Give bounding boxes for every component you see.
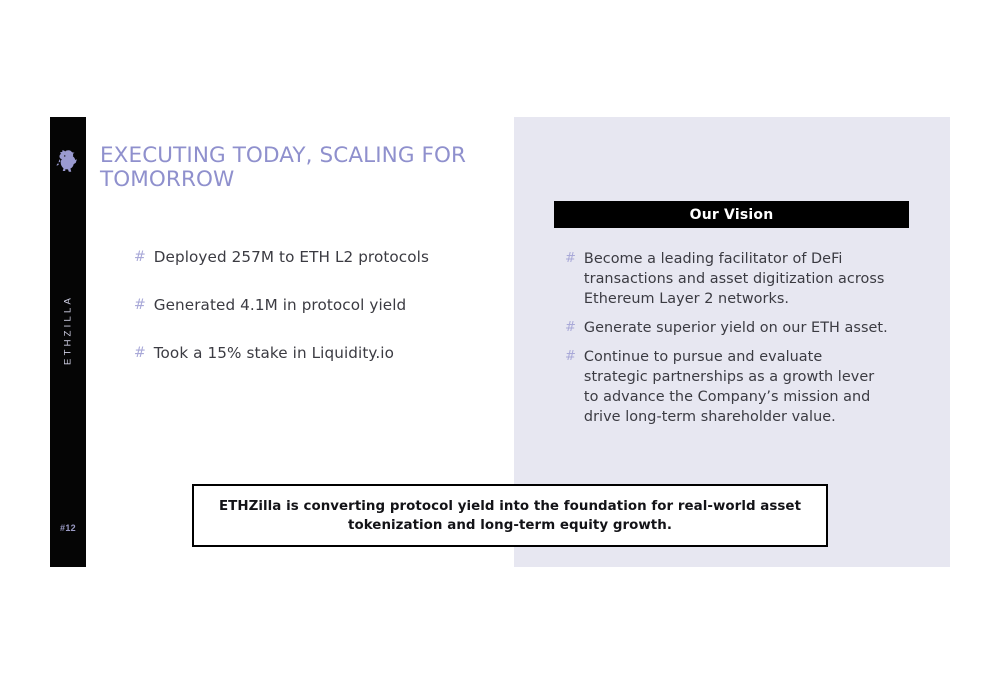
list-item: # Generate superior yield on our ETH ass…: [565, 318, 890, 338]
slide-title: EXECUTING TODAY, SCALING FOR TOMORROW: [100, 144, 500, 192]
hash-bullet-icon: #: [134, 295, 146, 316]
vision-banner-label: Our Vision: [690, 207, 774, 223]
brand-vertical-label: ETHZILLA: [63, 295, 74, 365]
brand-sidebar: ETHZILLA #12: [50, 117, 86, 567]
list-item-label: Took a 15% stake in Liquidity.io: [154, 343, 394, 364]
hash-bullet-icon: #: [134, 247, 146, 268]
list-item: # Continue to pursue and evaluate strate…: [565, 347, 890, 427]
page-number: #12: [60, 523, 76, 533]
slide-canvas: ETHZILLA #12 EXECUTING TODAY, SCALING FO…: [0, 0, 1000, 685]
hash-bullet-icon: #: [565, 347, 576, 367]
list-item: # Deployed 257M to ETH L2 protocols: [134, 247, 474, 268]
hash-bullet-icon: #: [565, 318, 576, 338]
list-item-label: Continue to pursue and evaluate strategi…: [584, 347, 890, 427]
list-item-label: Become a leading facilitator of DeFi tra…: [584, 249, 890, 309]
list-item-label: Deployed 257M to ETH L2 protocols: [154, 247, 429, 268]
summary-callout-text: ETHZilla is converting protocol yield in…: [210, 497, 810, 535]
list-item: # Become a leading facilitator of DeFi t…: [565, 249, 890, 309]
list-item: # Took a 15% stake in Liquidity.io: [134, 343, 474, 364]
hash-bullet-icon: #: [134, 343, 146, 364]
vision-banner: Our Vision: [554, 201, 909, 228]
summary-callout-box: ETHZilla is converting protocol yield in…: [192, 484, 828, 547]
highlights-list: # Deployed 257M to ETH L2 protocols # Ge…: [134, 247, 474, 364]
vision-list: # Become a leading facilitator of DeFi t…: [565, 249, 890, 427]
list-item-label: Generate superior yield on our ETH asset…: [584, 318, 888, 338]
godzilla-logo-icon: [55, 147, 81, 173]
hash-bullet-icon: #: [565, 249, 576, 269]
list-item-label: Generated 4.1M in protocol yield: [154, 295, 407, 316]
list-item: # Generated 4.1M in protocol yield: [134, 295, 474, 316]
